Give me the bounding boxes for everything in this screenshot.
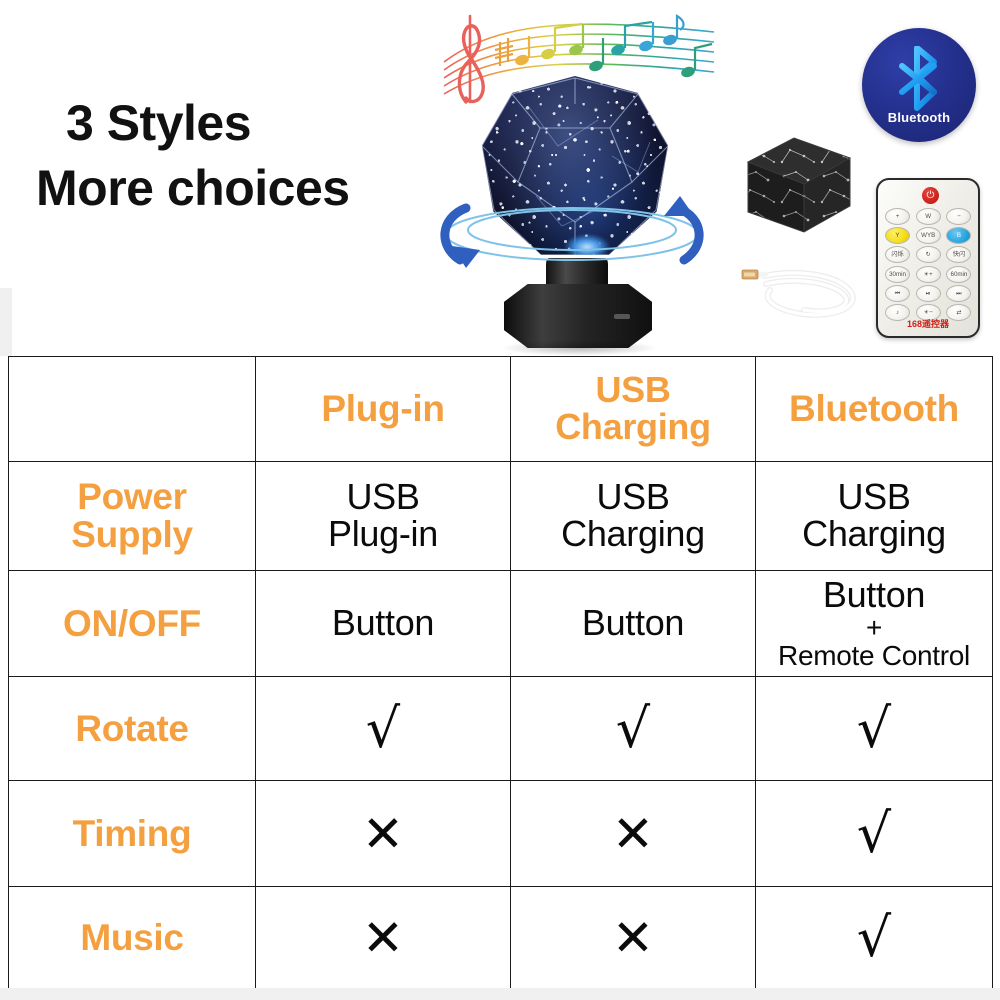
cross-icon: ✕ (612, 809, 654, 859)
cell-power-supply-plugin-line-1: USB (260, 479, 506, 516)
remote-button-wyb[interactable]: WYB (916, 227, 941, 244)
row-label-rotate: Rotate (9, 677, 256, 781)
remote-button-prev[interactable]: ⏮ (885, 285, 910, 302)
cell-music-usb: ✕ (511, 887, 756, 989)
row-label-on-off-text: ON/OFF (63, 603, 201, 644)
page-title: 3 Styles More choices (36, 98, 436, 214)
check-icon: √ (366, 702, 400, 756)
remote-control: ⏻ + W − Y WYB B 闪烁 ↻ 快闪 30min ☀+ 60min ⏮… (876, 178, 980, 338)
usb-cable (740, 248, 870, 324)
remote-model-label: 168遥控器 (878, 317, 978, 330)
check-icon: √ (857, 911, 891, 965)
cell-on-off-plugin-text: Button (332, 602, 434, 643)
row-label-power-supply: Power Supply (9, 462, 256, 571)
cell-on-off-bluetooth-line-1: Button (760, 577, 988, 614)
remote-button-grid: + W − Y WYB B 闪烁 ↻ 快闪 30min ☀+ 60min ⏮ ⏯… (885, 208, 975, 321)
remote-button-plus[interactable]: + (885, 208, 910, 225)
spec-comparison-table: Plug-in USB Charging Bluetooth Power Sup… (8, 356, 993, 989)
bluetooth-badge: Bluetooth (862, 28, 976, 142)
table-row-rotate: Rotate √ √ √ (9, 677, 993, 781)
header-bluetooth: Bluetooth (756, 357, 993, 462)
cell-on-off-bluetooth: Button + Remote Control (756, 571, 993, 677)
header-usb-charging-line-2: Charging (515, 409, 751, 446)
cross-icon: ✕ (612, 913, 654, 963)
table-row-power-supply: Power Supply USB Plug-in USB Charging US… (9, 462, 993, 571)
row-label-power-supply-line-2: Supply (13, 516, 251, 554)
table-header-row: Plug-in USB Charging Bluetooth (9, 357, 993, 462)
table-row-timing: Timing ✕ ✕ √ (9, 781, 993, 887)
remote-button-30min[interactable]: 30min (885, 266, 910, 283)
cell-on-off-usb: Button (511, 571, 756, 677)
row-label-timing-text: Timing (73, 813, 192, 854)
remote-button-flash[interactable]: 闪烁 (885, 246, 910, 263)
remote-button-b[interactable]: B (946, 227, 971, 244)
cross-icon: ✕ (362, 809, 404, 859)
check-icon: √ (616, 702, 650, 756)
remote-button-play-pause[interactable]: ⏯ (916, 285, 941, 302)
headline-line-2: More choices (36, 163, 436, 214)
remote-button-next[interactable]: ⏭ (946, 285, 971, 302)
cell-rotate-plugin: √ (256, 677, 511, 781)
cell-on-off-bluetooth-plus: + (760, 614, 988, 642)
cross-icon: ✕ (362, 913, 404, 963)
row-label-timing: Timing (9, 781, 256, 887)
cell-music-bluetooth: √ (756, 887, 993, 989)
row-label-on-off: ON/OFF (9, 571, 256, 677)
cell-on-off-plugin: Button (256, 571, 511, 677)
cell-timing-usb: ✕ (511, 781, 756, 887)
rotation-arrows-icon (422, 190, 722, 276)
cell-on-off-usb-text: Button (582, 602, 684, 643)
headline-line-1: 3 Styles (36, 98, 436, 149)
row-label-rotate-text: Rotate (75, 708, 188, 749)
remote-power-button[interactable]: ⏻ (922, 187, 939, 204)
constellation-gift-box (738, 128, 856, 240)
cell-timing-bluetooth: √ (756, 781, 993, 887)
header-bluetooth-label: Bluetooth (789, 388, 959, 429)
lamp-usb-port (614, 314, 630, 319)
remote-button-y[interactable]: Y (885, 227, 910, 244)
cell-power-supply-bluetooth-line-2: Charging (760, 516, 988, 553)
check-icon: √ (857, 807, 891, 861)
header-usb-charging-line-1: USB (515, 372, 751, 409)
hero-section: 3 Styles More choices (0, 0, 1000, 356)
remote-button-cycle[interactable]: ↻ (916, 246, 941, 263)
remote-button-fast[interactable]: 快闪 (946, 246, 971, 263)
cell-timing-plugin: ✕ (256, 781, 511, 887)
table-row-music: Music ✕ ✕ √ (9, 887, 993, 989)
cell-rotate-bluetooth: √ (756, 677, 993, 781)
cell-music-plugin: ✕ (256, 887, 511, 989)
cell-power-supply-plugin-line-2: Plug-in (260, 516, 506, 553)
cell-power-supply-bluetooth: USB Charging (756, 462, 993, 571)
bluetooth-icon (890, 46, 948, 112)
cell-power-supply-usb: USB Charging (511, 462, 756, 571)
bluetooth-badge-label: Bluetooth (862, 110, 976, 125)
header-plug-in: Plug-in (256, 357, 511, 462)
star-projector-lamp (438, 72, 706, 356)
row-label-power-supply-line-1: Power (13, 478, 251, 516)
product-comparison-page: 3 Styles More choices (0, 0, 1000, 1000)
header-plug-in-label: Plug-in (321, 388, 444, 429)
lamp-drop-shadow (500, 340, 658, 356)
header-usb-charging: USB Charging (511, 357, 756, 462)
check-icon: √ (857, 702, 891, 756)
hero-edge-strip (0, 288, 12, 356)
row-label-music-text: Music (80, 917, 183, 958)
cell-rotate-usb: √ (511, 677, 756, 781)
cell-on-off-bluetooth-line-3: Remote Control (760, 642, 988, 671)
cell-power-supply-usb-line-1: USB (515, 479, 751, 516)
remote-button-60min[interactable]: 60min (946, 266, 971, 283)
cell-power-supply-bluetooth-line-1: USB (760, 479, 988, 516)
cell-power-supply-plugin: USB Plug-in (256, 462, 511, 571)
cell-power-supply-usb-line-2: Charging (515, 516, 751, 553)
table-corner-cell (9, 357, 256, 462)
remote-button-w[interactable]: W (916, 208, 941, 225)
row-label-music: Music (9, 887, 256, 989)
bottom-edge-strip (0, 988, 1000, 1000)
remote-button-bright-up[interactable]: ☀+ (916, 266, 941, 283)
table-row-on-off: ON/OFF Button Button Button + Remote Con… (9, 571, 993, 677)
remote-button-minus[interactable]: − (946, 208, 971, 225)
